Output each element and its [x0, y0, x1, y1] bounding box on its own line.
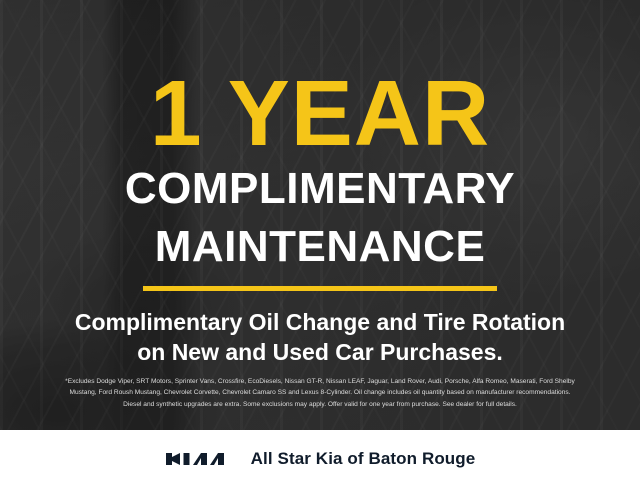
kia-logo-icon	[165, 448, 235, 470]
hero-content: 1 YEAR COMPLIMENTARY MAINTENANCE Complim…	[0, 0, 640, 430]
disclaimer-line-1: *Excludes Dodge Viper, SRT Motors, Sprin…	[12, 376, 628, 387]
headline-secondary-line-1: COMPLIMENTARY	[125, 166, 515, 212]
yellow-divider-bar	[143, 286, 497, 291]
offer-description-line-2: on New and Used Car Purchases.	[137, 338, 503, 367]
headline-secondary-line-2: MAINTENANCE	[155, 224, 486, 270]
offer-description-line-1: Complimentary Oil Change and Tire Rotati…	[75, 308, 565, 337]
headline-primary: 1 YEAR	[150, 74, 490, 154]
disclaimer-text: *Excludes Dodge Viper, SRT Motors, Sprin…	[0, 376, 640, 410]
promotional-banner: 1 YEAR COMPLIMENTARY MAINTENANCE Complim…	[0, 0, 640, 488]
hero-section: 1 YEAR COMPLIMENTARY MAINTENANCE Complim…	[0, 0, 640, 430]
disclaimer-line-2: Mustang, Ford Roush Mustang, Chevrolet C…	[12, 387, 628, 398]
footer-bar: All Star Kia of Baton Rouge	[0, 430, 640, 488]
dealer-name: All Star Kia of Baton Rouge	[251, 449, 476, 469]
disclaimer-line-3: Diesel and synthetic upgrades are extra.…	[12, 399, 628, 410]
